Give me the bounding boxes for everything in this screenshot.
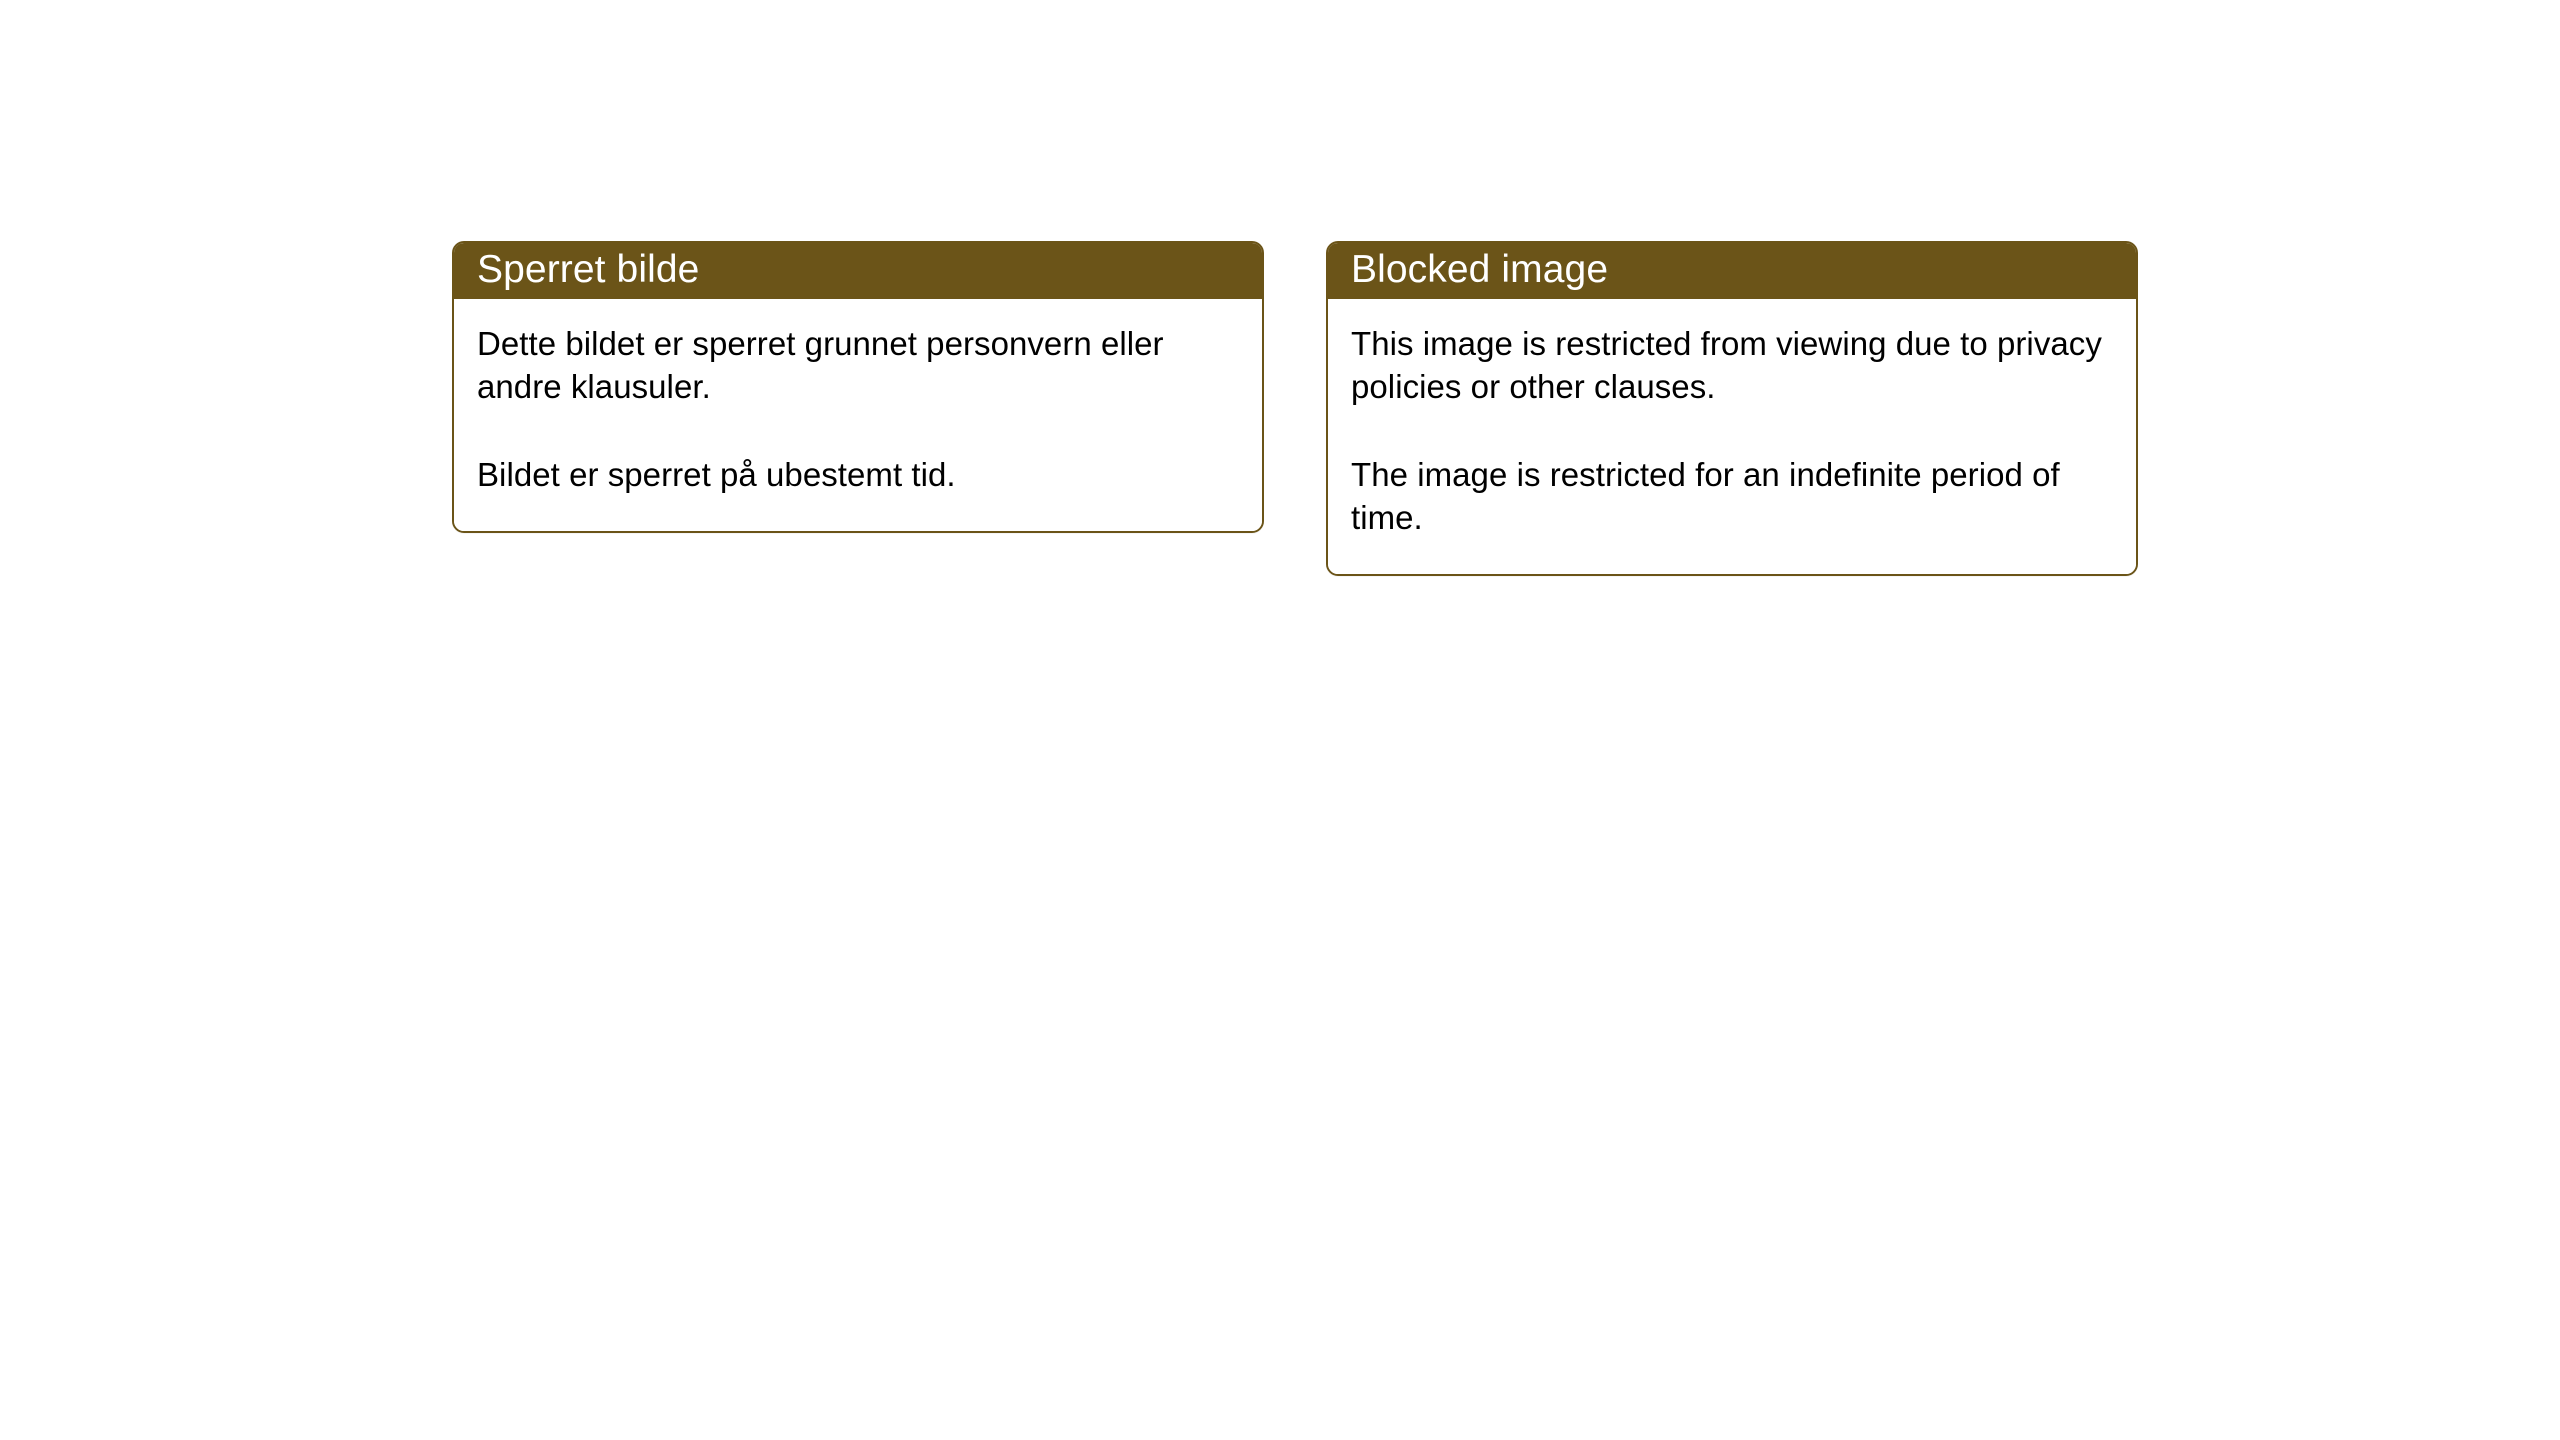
page-root: Sperret bilde Dette bildet er sperret gr… [0, 0, 2560, 1440]
panel-title-norwegian: Sperret bilde [454, 243, 1262, 299]
panel-paragraph-norwegian-1: Dette bildet er sperret grunnet personve… [477, 323, 1240, 409]
blocked-image-panel-english: Blocked image This image is restricted f… [1326, 241, 2138, 576]
panel-body-english: This image is restricted from viewing du… [1328, 299, 2136, 574]
panel-paragraph-english-1: This image is restricted from viewing du… [1351, 323, 2114, 409]
panel-paragraph-english-2: The image is restricted for an indefinit… [1351, 454, 2114, 540]
panel-paragraph-norwegian-2: Bildet er sperret på ubestemt tid. [477, 454, 1240, 497]
panel-body-norwegian: Dette bildet er sperret grunnet personve… [454, 299, 1262, 531]
blocked-image-notices: Sperret bilde Dette bildet er sperret gr… [452, 241, 2138, 576]
panel-title-english: Blocked image [1328, 243, 2136, 299]
blocked-image-panel-norwegian: Sperret bilde Dette bildet er sperret gr… [452, 241, 1264, 533]
